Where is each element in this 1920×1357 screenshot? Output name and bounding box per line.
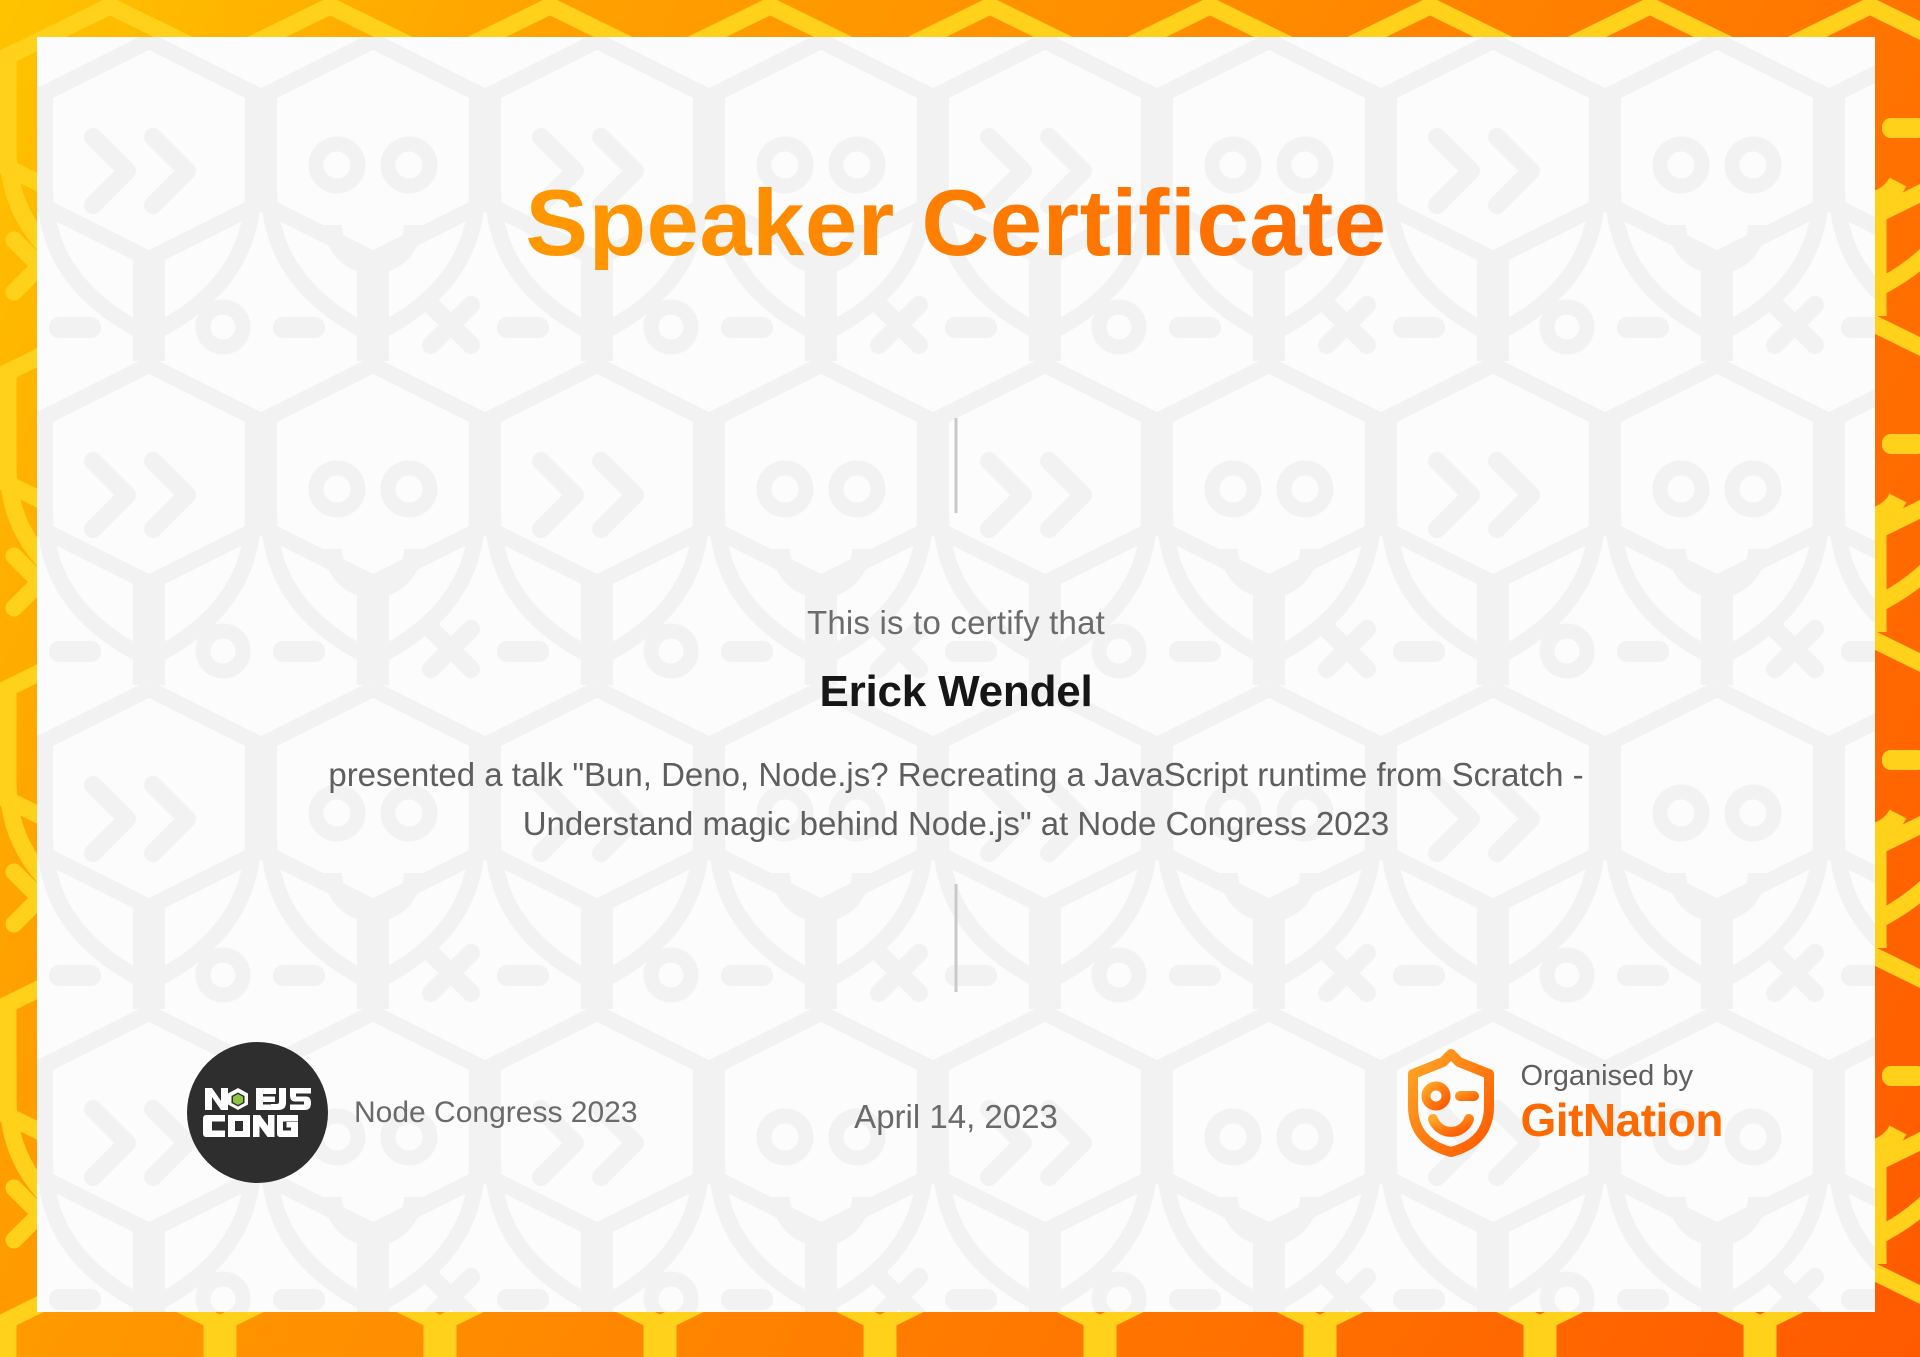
organiser-name: GitNation: [1521, 1096, 1723, 1146]
organiser-block: Organised by GitNation: [1403, 1048, 1723, 1158]
certificate: Speaker Certificate This is to certify t…: [0, 0, 1920, 1357]
organised-by-label: Organised by: [1521, 1061, 1723, 1092]
talk-description: presented a talk "Bun, Deno, Node.js? Re…: [246, 751, 1666, 849]
page-title: Speaker Certificate: [525, 176, 1386, 270]
event-block: Node Congress 2023: [187, 1042, 638, 1183]
event-name: Node Congress 2023: [354, 1096, 638, 1130]
certificate-card: Speaker Certificate This is to certify t…: [37, 37, 1875, 1312]
recipient-name: Erick Wendel: [37, 667, 1875, 717]
gitnation-shield-icon: [1403, 1048, 1499, 1158]
issue-date: April 14, 2023: [854, 1098, 1058, 1136]
nodejs-congress-logo-icon: [187, 1042, 328, 1183]
divider-top: [955, 418, 958, 513]
certify-line: This is to certify that: [37, 604, 1875, 642]
divider-bottom: [955, 884, 958, 992]
certificate-footer: Node Congress 2023 April 14, 2023: [37, 1042, 1875, 1202]
